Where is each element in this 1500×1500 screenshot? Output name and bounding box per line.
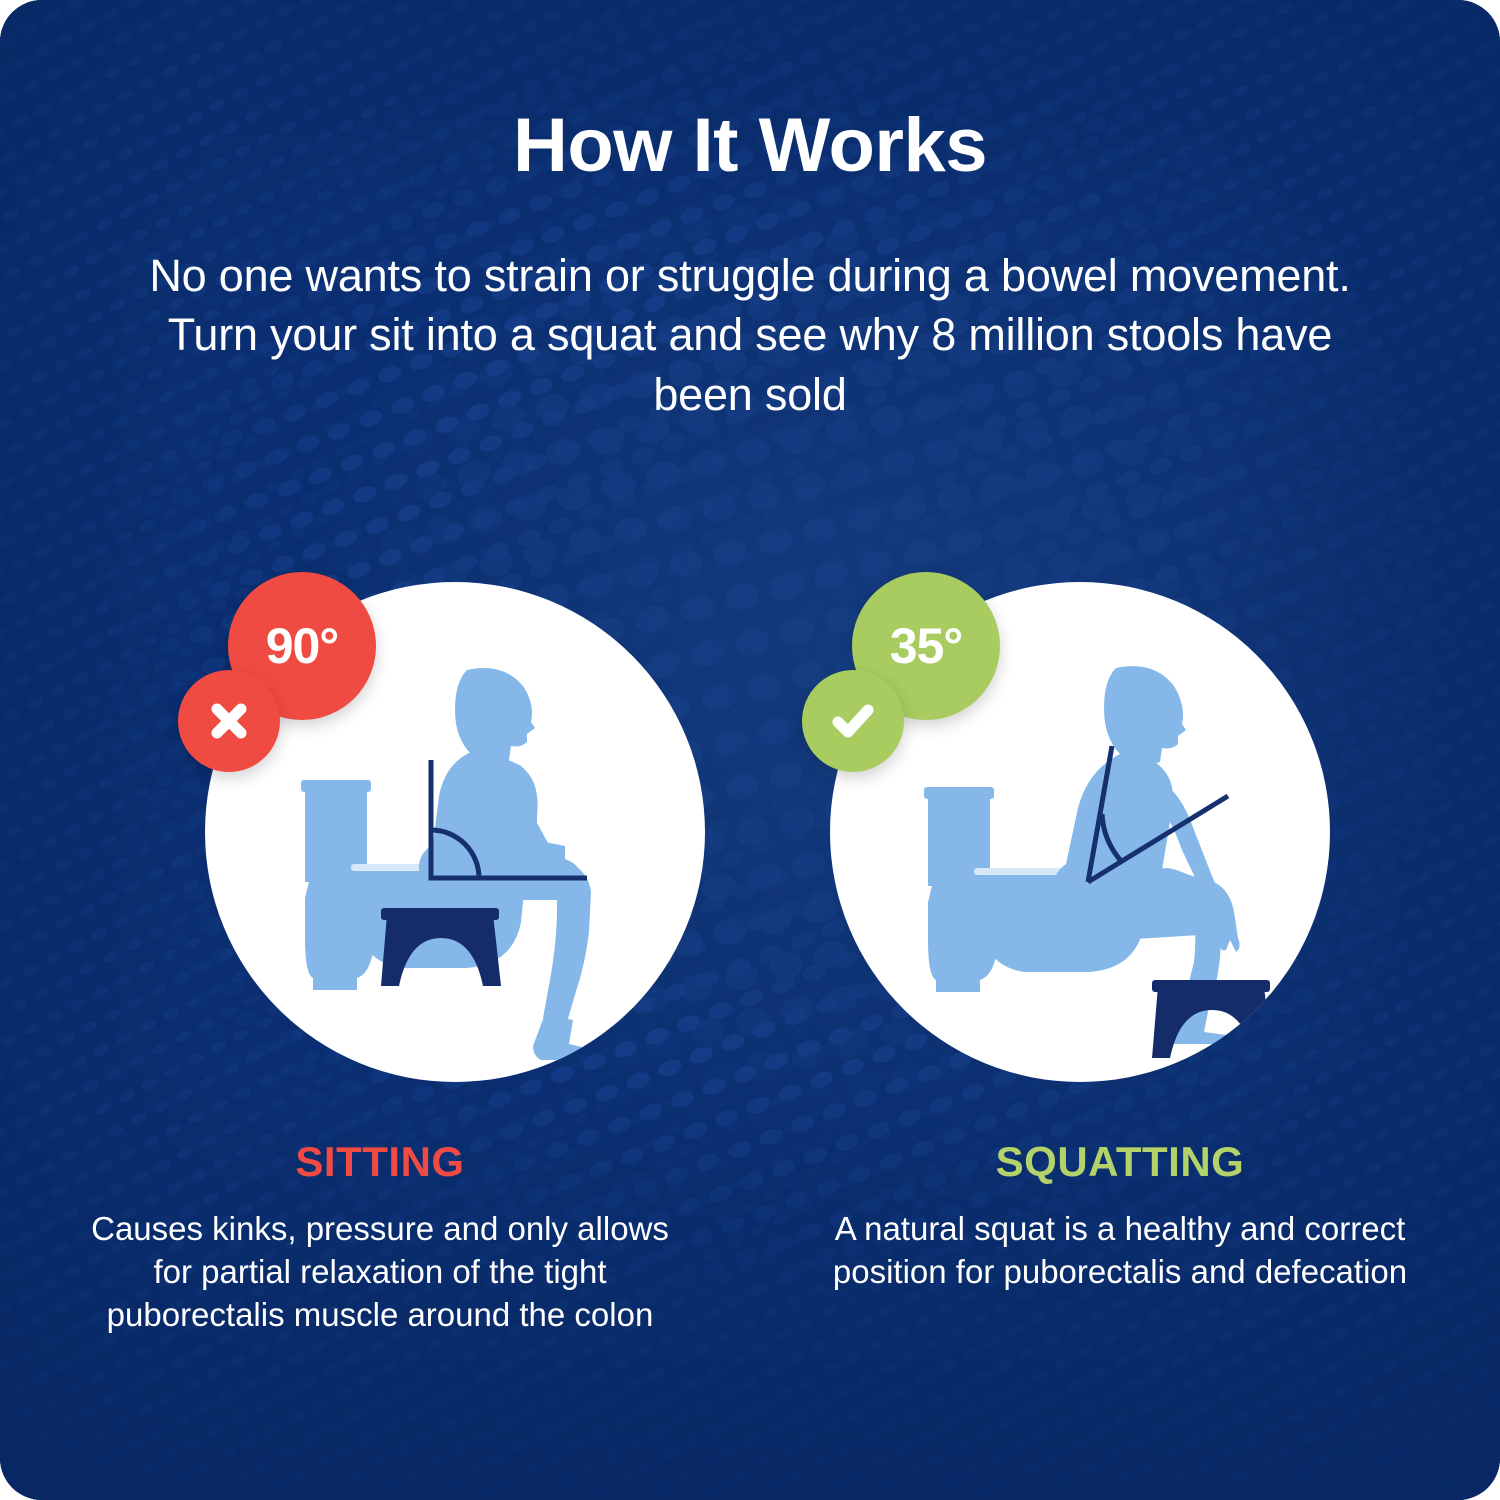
panel-squatting: 35° SQUATTING A natural squat is a healt…	[770, 560, 1470, 1380]
caption-body-sitting: Causes kinks, pressure and only allows f…	[70, 1208, 690, 1337]
seated-person-silhouette	[419, 668, 606, 1060]
check-icon	[825, 693, 881, 749]
angle-badge-35-label: 35°	[890, 617, 963, 675]
step-stool-squatting	[1152, 980, 1272, 1058]
status-badge-correct	[802, 670, 904, 772]
caption-title-squatting: SQUATTING	[770, 1138, 1470, 1186]
caption-title-sitting: SITTING	[30, 1138, 730, 1186]
page-subtitle: No one wants to strain or struggle durin…	[148, 246, 1352, 424]
how-it-works-infographic: How It Works No one wants to strain or s…	[0, 0, 1500, 1500]
x-icon	[204, 696, 254, 746]
status-badge-incorrect	[178, 670, 280, 772]
panel-sitting: 90° SITTING Causes kinks, pressure and o…	[30, 560, 730, 1380]
caption-body-squatting: A natural squat is a healthy and correct…	[825, 1208, 1415, 1294]
angle-badge-90-label: 90°	[266, 617, 339, 675]
page-title: How It Works	[0, 106, 1500, 186]
